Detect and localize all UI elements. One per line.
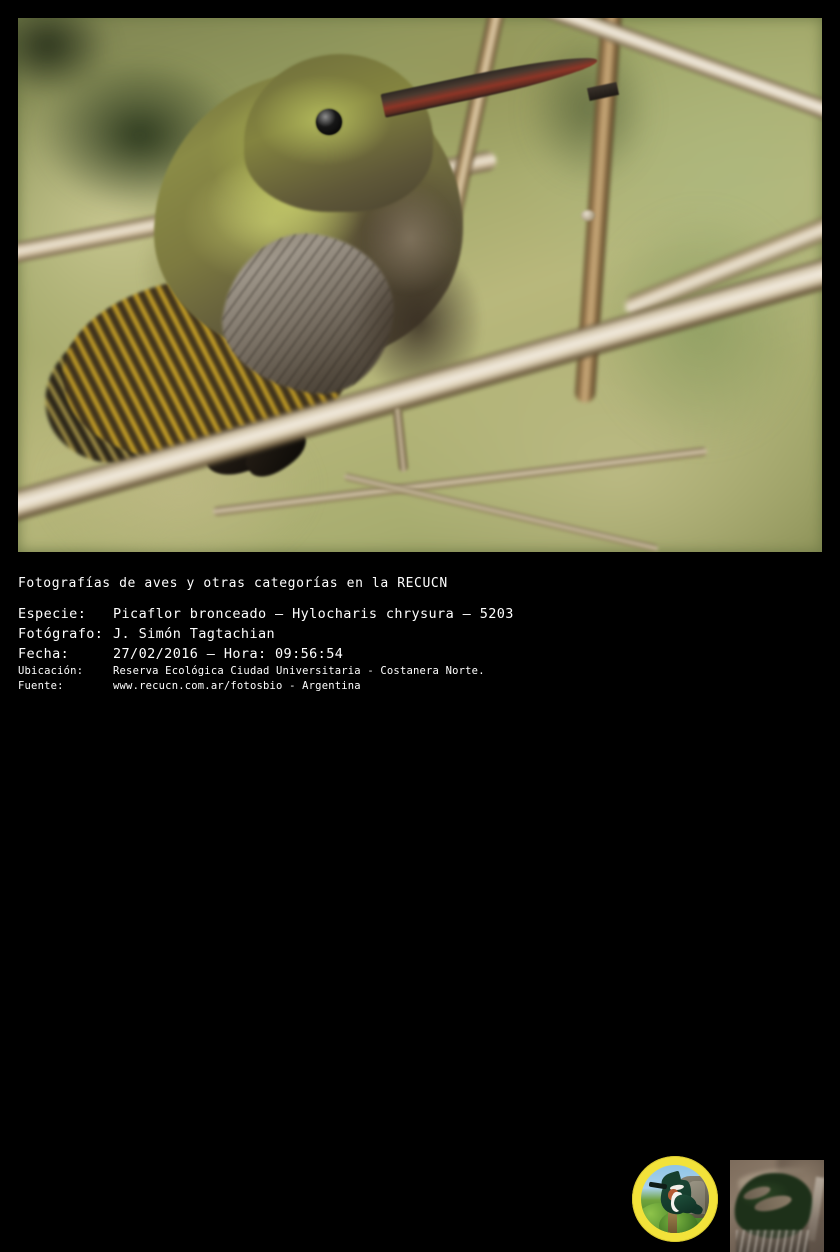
photo-canvas [18, 18, 822, 552]
logo-foliage-secondary [659, 1211, 698, 1233]
label-especie: Especie: [18, 604, 113, 624]
metadata-row-fecha: Fecha: 27/02/2016 – Hora: 09:56:54 [18, 644, 618, 664]
metadata-row-ubicacion: Ubicación: Reserva Ecológica Ciudad Univ… [18, 664, 618, 679]
metadata-row-fotografo: Fotógrafo: J. Simón Tagtachian [18, 624, 618, 644]
recucn-logo[interactable] [632, 1156, 718, 1242]
caption-heading: Fotografías de aves y otras categorías e… [18, 576, 448, 591]
aerial-thumbnail[interactable] [730, 1160, 824, 1252]
photo-card: Fotografías de aves y otras categorías e… [0, 0, 840, 708]
value-fecha: 27/02/2016 – Hora: 09:56:54 [113, 644, 343, 664]
value-ubicacion: Reserva Ecológica Ciudad Universitaria -… [113, 664, 485, 679]
label-ubicacion: Ubicación: [18, 664, 113, 679]
metadata-row-especie: Especie: Picaflor bronceado – Hylocharis… [18, 604, 618, 624]
metadata-row-fuente: Fuente: www.recucn.com.ar/fotosbio - Arg… [18, 679, 618, 694]
aerial-urban-area [736, 1230, 809, 1252]
bird-photograph [18, 18, 822, 552]
bird-eye [316, 109, 342, 134]
bird-beak [381, 48, 601, 117]
label-fuente: Fuente: [18, 679, 113, 694]
label-fecha: Fecha: [18, 644, 113, 664]
value-fuente: www.recucn.com.ar/fotosbio - Argentina [113, 679, 361, 694]
label-fotografo: Fotógrafo: [18, 624, 113, 644]
metadata-list: Especie: Picaflor bronceado – Hylocharis… [18, 604, 618, 694]
value-especie: Picaflor bronceado – Hylocharis chrysura… [113, 604, 514, 624]
recucn-logo-artwork [641, 1165, 709, 1233]
value-fotografo: J. Simón Tagtachian [113, 624, 275, 644]
branch-nub [581, 210, 595, 221]
caption-panel: Fotografías de aves y otras categorías e… [0, 556, 840, 708]
